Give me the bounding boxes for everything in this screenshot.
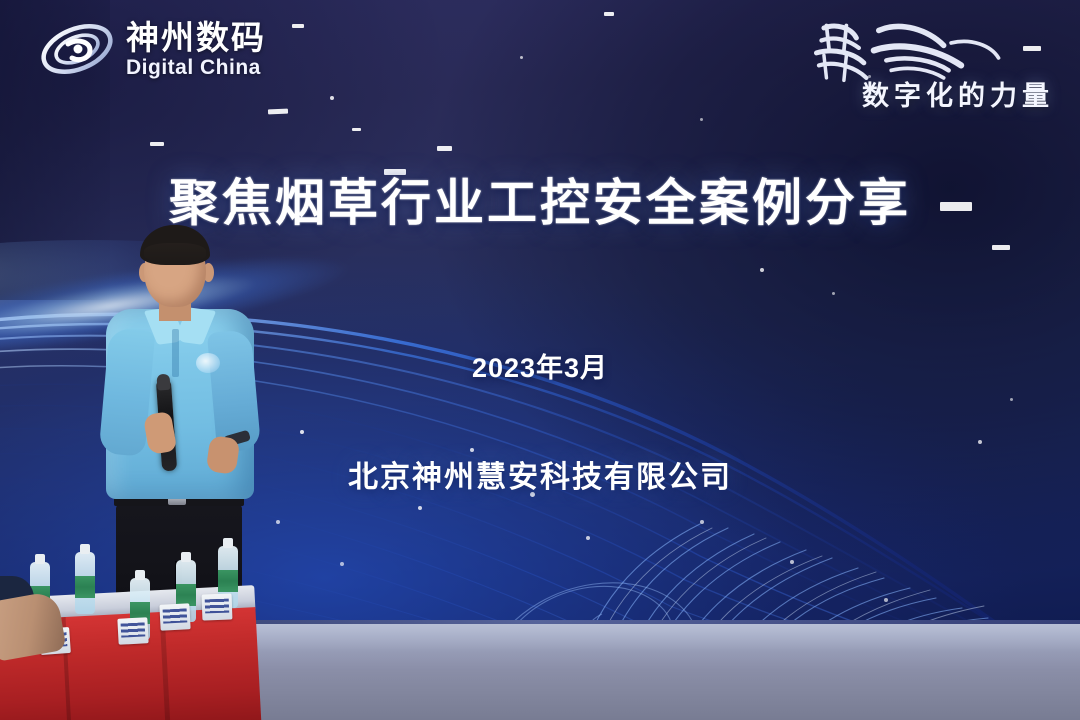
swirl-logo-icon xyxy=(38,16,116,82)
particle-dot xyxy=(790,560,794,564)
particle-dot xyxy=(700,520,704,524)
particle-dash xyxy=(352,128,361,131)
particle-dot xyxy=(300,430,304,434)
speaker-chest-logo xyxy=(196,353,220,373)
particle-dash xyxy=(292,24,304,28)
particle-dot xyxy=(276,520,280,524)
particle-dot xyxy=(978,440,982,444)
brand-logo-digital-china: 神州数码 Digital China xyxy=(38,16,266,82)
particle-dot xyxy=(884,598,888,602)
speaker-hair xyxy=(140,225,210,265)
particle-dot xyxy=(586,536,590,540)
presentation-title: 聚焦烟草行业工控安全案例分享 xyxy=(0,176,1080,230)
water-bottle xyxy=(75,552,95,614)
particle-dot xyxy=(520,56,523,59)
particle-dash xyxy=(150,142,164,146)
name-card xyxy=(159,603,190,631)
particle-dot xyxy=(330,96,334,100)
particle-dot xyxy=(760,268,764,272)
brand-name-cn: 神州数码 xyxy=(126,21,266,54)
particle-dot xyxy=(700,118,703,121)
name-card xyxy=(117,617,148,645)
speaker-shirt-placket xyxy=(172,329,179,377)
conference-photo: 神州数码 Digital China xyxy=(0,0,1080,720)
particle-dash xyxy=(437,146,452,151)
event-slogan-block: 数字化的力量 xyxy=(804,18,1054,113)
calligraphy-juhe-icon xyxy=(804,18,1016,74)
brand-name-en: Digital China xyxy=(126,57,266,78)
particle-dot xyxy=(340,562,344,566)
particle-dash xyxy=(604,12,614,16)
name-card xyxy=(202,593,233,620)
particle-dot xyxy=(418,506,422,510)
particle-dash xyxy=(268,109,288,115)
particle-dot xyxy=(1010,398,1013,401)
particle-dot xyxy=(832,292,835,295)
particle-dash xyxy=(992,245,1010,250)
